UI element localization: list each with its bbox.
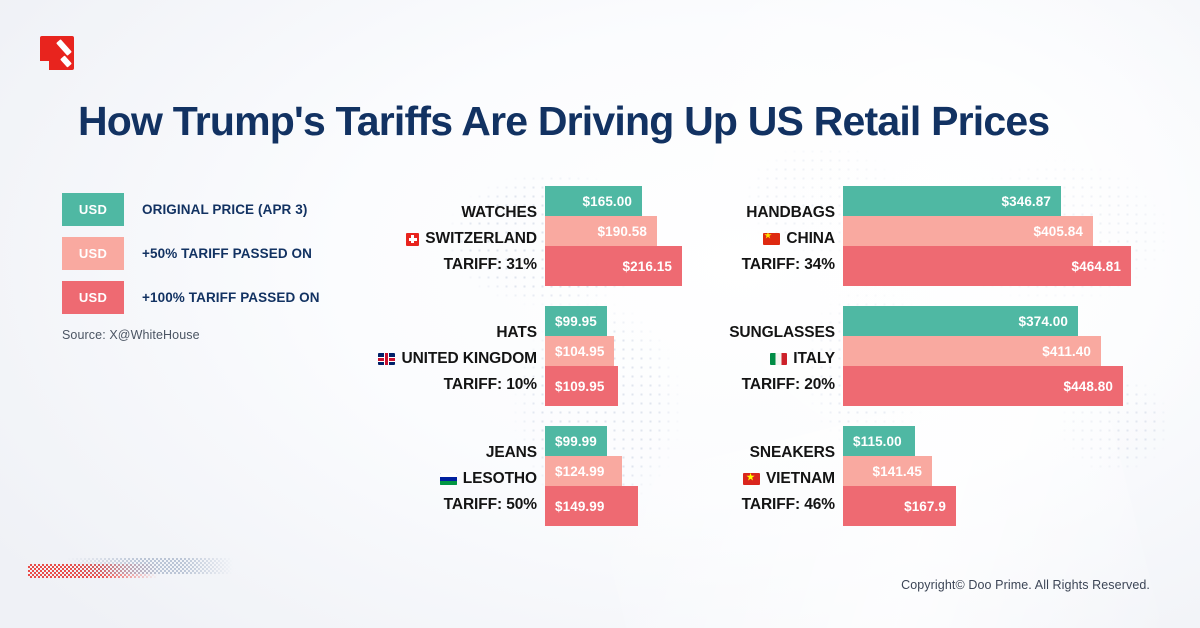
bar-stack: $115.00$141.45$167.9: [843, 426, 956, 526]
bar-tariff100[interactable]: $167.9: [843, 486, 956, 526]
bar-original[interactable]: $165.00: [545, 186, 642, 216]
ch-flag-icon: [406, 233, 419, 246]
country-label: LESOTHO: [463, 466, 537, 492]
bar-original[interactable]: $374.00: [843, 306, 1078, 336]
bar-stack: $99.99$124.99$149.99: [545, 426, 638, 526]
bar-tariff50[interactable]: $141.45: [843, 456, 932, 486]
bar-tariff100[interactable]: $448.80: [843, 366, 1123, 406]
bar-stack: $99.95$104.95$109.95: [545, 306, 618, 406]
bar-original[interactable]: $99.99: [545, 426, 607, 456]
bar-value-label: $411.40: [1042, 344, 1091, 359]
bar-tariff50[interactable]: $411.40: [843, 336, 1101, 366]
country-line: VIETNAM: [690, 466, 835, 492]
chart-legend: USDORIGINAL PRICE (APR 3)USD+50% TARIFF …: [62, 193, 320, 325]
bar-stack: $165.00$190.58$216.15: [545, 186, 682, 286]
legend-swatch: USD: [62, 237, 124, 270]
gb-flag-icon: [378, 353, 395, 365]
chart-group: HANDBAGSCHINATARIFF: 34%$346.87$405.84$4…: [690, 186, 1131, 286]
country-line: ITALY: [690, 346, 835, 372]
bar-value-label: $374.00: [1019, 314, 1069, 329]
group-label-block: HANDBAGSCHINATARIFF: 34%: [690, 186, 835, 278]
country-label: ITALY: [793, 346, 835, 372]
legend-item-label: ORIGINAL PRICE (APR 3): [142, 202, 307, 217]
bar-value-label: $99.99: [555, 434, 597, 449]
chart-group: JEANSLESOTHOTARIFF: 50%$99.99$124.99$149…: [400, 426, 638, 526]
bar-value-label: $448.80: [1064, 379, 1114, 394]
cn-flag-icon: [763, 233, 780, 245]
tariff-label: TARIFF: 10%: [400, 372, 537, 398]
bar-tariff100[interactable]: $216.15: [545, 246, 682, 286]
vn-flag-icon: [743, 473, 760, 485]
country-label: CHINA: [786, 226, 835, 252]
country-label: VIETNAM: [766, 466, 835, 492]
country-label: SWITZERLAND: [425, 226, 537, 252]
source-note: Source: X@WhiteHouse: [62, 328, 200, 342]
tariff-label: TARIFF: 31%: [400, 252, 537, 278]
bar-value-label: $165.00: [583, 194, 633, 209]
bar-value-label: $149.99: [555, 499, 605, 514]
bar-value-label: $115.00: [853, 434, 902, 449]
chart-group: WATCHESSWITZERLANDTARIFF: 31%$165.00$190…: [400, 186, 682, 286]
bar-tariff100[interactable]: $109.95: [545, 366, 618, 406]
tariff-label: TARIFF: 20%: [690, 372, 835, 398]
category-label: JEANS: [400, 440, 537, 466]
bar-stack: $374.00$411.40$448.80: [843, 306, 1123, 406]
group-label-block: JEANSLESOTHOTARIFF: 50%: [400, 426, 537, 518]
country-line: SWITZERLAND: [400, 226, 537, 252]
it-flag-icon: [770, 353, 787, 365]
legend-item: USDORIGINAL PRICE (APR 3): [62, 193, 320, 226]
bar-value-label: $405.84: [1034, 224, 1084, 239]
copyright-text: Copyright© Doo Prime. All Rights Reserve…: [901, 578, 1150, 592]
bar-original[interactable]: $115.00: [843, 426, 915, 456]
bar-tariff100[interactable]: $149.99: [545, 486, 638, 526]
bar-tariff50[interactable]: $124.99: [545, 456, 622, 486]
chart-group: SUNGLASSESITALYTARIFF: 20%$374.00$411.40…: [690, 306, 1123, 406]
bar-value-label: $346.87: [1002, 194, 1052, 209]
chart-group: SNEAKERSVIETNAMTARIFF: 46%$115.00$141.45…: [690, 426, 956, 526]
bar-tariff100[interactable]: $464.81: [843, 246, 1131, 286]
footer-decorative-pattern: [28, 558, 233, 580]
bar-value-label: $109.95: [555, 379, 605, 394]
group-label-block: SUNGLASSESITALYTARIFF: 20%: [690, 306, 835, 398]
legend-swatch: USD: [62, 281, 124, 314]
legend-swatch: USD: [62, 193, 124, 226]
country-label: UNITED KINGDOM: [401, 346, 537, 372]
bar-value-label: $104.95: [555, 344, 605, 359]
group-label-block: SNEAKERSVIETNAMTARIFF: 46%: [690, 426, 835, 518]
legend-item-label: +100% TARIFF PASSED ON: [142, 290, 320, 305]
tariff-label: TARIFF: 50%: [400, 492, 537, 518]
tariff-label: TARIFF: 34%: [690, 252, 835, 278]
category-label: HATS: [400, 320, 537, 346]
logo-notch: [40, 61, 49, 70]
tariff-label: TARIFF: 46%: [690, 492, 835, 518]
legend-item-label: +50% TARIFF PASSED ON: [142, 246, 312, 261]
infographic-canvas: How Trump's Tariffs Are Driving Up US Re…: [0, 0, 1200, 628]
country-line: LESOTHO: [400, 466, 537, 492]
chart-group: HATSUNITED KINGDOMTARIFF: 10%$99.95$104.…: [400, 306, 618, 406]
category-label: SUNGLASSES: [690, 320, 835, 346]
category-label: SNEAKERS: [690, 440, 835, 466]
bar-value-label: $190.58: [598, 224, 648, 239]
logo-slash-upper: [56, 39, 72, 56]
bar-tariff50[interactable]: $190.58: [545, 216, 657, 246]
bar-value-label: $167.9: [904, 499, 946, 514]
category-label: HANDBAGS: [690, 200, 835, 226]
country-line: UNITED KINGDOM: [400, 346, 537, 372]
country-line: CHINA: [690, 226, 835, 252]
bar-original[interactable]: $99.95: [545, 306, 607, 336]
bar-tariff50[interactable]: $405.84: [843, 216, 1093, 246]
page-title: How Trump's Tariffs Are Driving Up US Re…: [78, 96, 1138, 146]
doo-prime-logo-icon: [40, 36, 74, 70]
bar-value-label: $124.99: [555, 464, 605, 479]
bar-value-label: $216.15: [623, 259, 673, 274]
bar-original[interactable]: $346.87: [843, 186, 1061, 216]
group-label-block: WATCHESSWITZERLANDTARIFF: 31%: [400, 186, 537, 278]
bar-value-label: $99.95: [555, 314, 597, 329]
category-label: WATCHES: [400, 200, 537, 226]
logo-slash-lower: [60, 55, 72, 67]
bar-tariff50[interactable]: $104.95: [545, 336, 614, 366]
group-label-block: HATSUNITED KINGDOMTARIFF: 10%: [400, 306, 537, 398]
bar-value-label: $464.81: [1072, 259, 1122, 274]
pattern-gray-block: [66, 558, 233, 574]
bar-value-label: $141.45: [873, 464, 923, 479]
legend-item: USD+50% TARIFF PASSED ON: [62, 237, 320, 270]
legend-item: USD+100% TARIFF PASSED ON: [62, 281, 320, 314]
bar-stack: $346.87$405.84$464.81: [843, 186, 1131, 286]
ls-flag-icon: [440, 473, 457, 485]
